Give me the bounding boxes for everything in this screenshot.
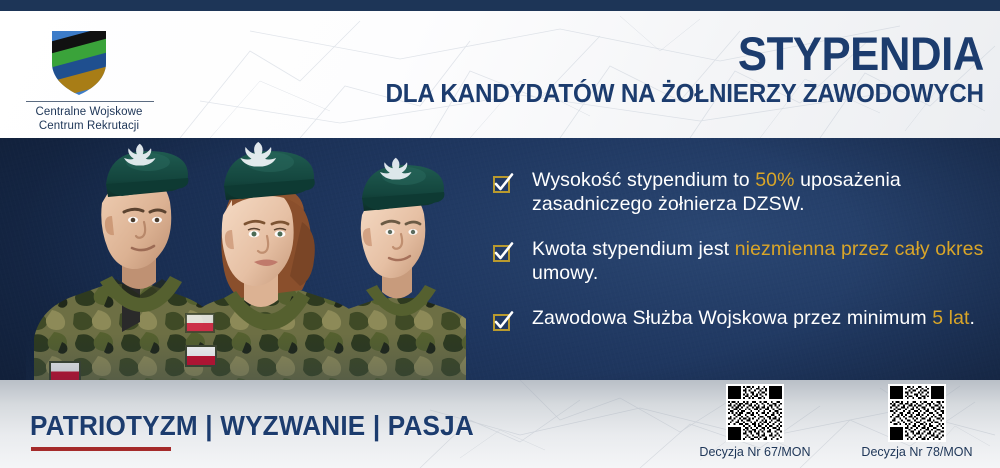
bullet-3-seg-3: . — [970, 307, 976, 329]
bullet-1-highlight: 50% — [755, 169, 794, 191]
bullet-2-seg-1: Kwota stypendium jest — [532, 238, 735, 260]
checkbox-checked-icon — [492, 311, 514, 333]
page-title: STYPENDIA — [398, 29, 984, 78]
three-soldiers-photo — [26, 124, 466, 424]
list-item-text: Wysokość stypendium to 50% uposażenia za… — [532, 168, 992, 216]
checkbox-checked-icon — [492, 242, 514, 264]
bullet-2-highlight: niezmienna przez cały okres — [735, 238, 984, 260]
checkbox-checked-icon — [492, 173, 514, 195]
headline-block: STYPENDIA DLA KANDYDATÓW NA ŻOŁNIERZY ZA… — [354, 29, 984, 109]
list-item-text: Zawodowa Służba Wojskowa przez minimum 5… — [532, 306, 975, 330]
qr-decyzja-78[interactable]: Decyzja Nr 78/MON — [852, 384, 982, 459]
list-item: Wysokość stypendium to 50% uposażenia za… — [492, 168, 992, 216]
recruitment-banner: Centralne Wojskowe Centrum Rekrutacji ST… — [0, 0, 1000, 468]
bullet-3-highlight: 5 lat — [932, 307, 969, 329]
bullet-2-seg-3: umowy. — [532, 262, 598, 284]
qr-code-image[interactable] — [888, 384, 946, 442]
logo-line-1: Centralne Wojskowe — [14, 106, 164, 120]
page-subtitle: DLA KANDYDATÓW NA ŻOŁNIERZY ZAWODOWYCH — [386, 80, 984, 109]
bullet-1-seg-1: Wysokość stypendium to — [532, 169, 755, 191]
list-item: Zawodowa Służba Wojskowa przez minimum 5… — [492, 306, 992, 333]
polish-flag-patch — [186, 314, 214, 332]
qr-caption: Decyzja Nr 78/MON — [852, 445, 982, 459]
qr-caption: Decyzja Nr 67/MON — [690, 445, 820, 459]
bullet-3-seg-1: Zawodowa Służba Wojskowa przez minimum — [532, 307, 932, 329]
logo-divider — [26, 101, 154, 102]
header-band: Centralne Wojskowe Centrum Rekrutacji ST… — [0, 11, 1000, 138]
list-item-text: Kwota stypendium jest niezmienna przez c… — [532, 237, 992, 285]
benefits-list: Wysokość stypendium to 50% uposażenia za… — [492, 168, 992, 333]
qr-decyzja-67[interactable]: Decyzja Nr 67/MON — [690, 384, 820, 459]
qr-group: Decyzja Nr 67/MON — [0, 384, 1000, 468]
list-item: Kwota stypendium jest niezmienna przez c… — [492, 237, 992, 285]
top-accent-strip — [0, 0, 1000, 11]
qr-code-image[interactable] — [726, 384, 784, 442]
shield-icon — [48, 27, 110, 97]
